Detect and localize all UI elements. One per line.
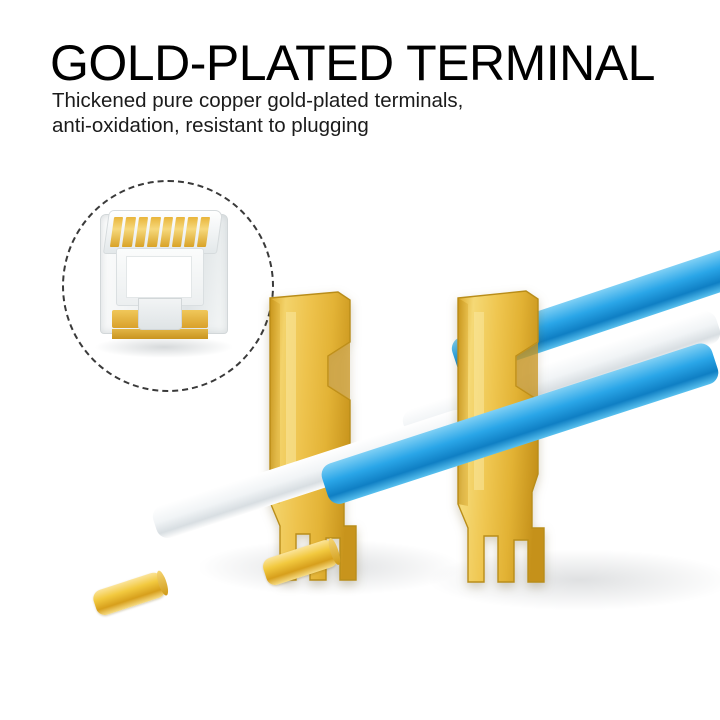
page-title: GOLD-PLATED TERMINAL xyxy=(50,36,655,90)
product-poster: GOLD-PLATED TERMINAL Thickened pure copp… xyxy=(0,0,720,720)
subtitle: Thickened pure copper gold-plated termin… xyxy=(52,88,463,138)
main-photo xyxy=(0,150,720,720)
cable-white-front-tip xyxy=(91,570,168,617)
subtitle-line-1: Thickened pure copper gold-plated termin… xyxy=(52,88,463,113)
subtitle-line-2: anti-oxidation, resistant to plugging xyxy=(52,113,463,138)
